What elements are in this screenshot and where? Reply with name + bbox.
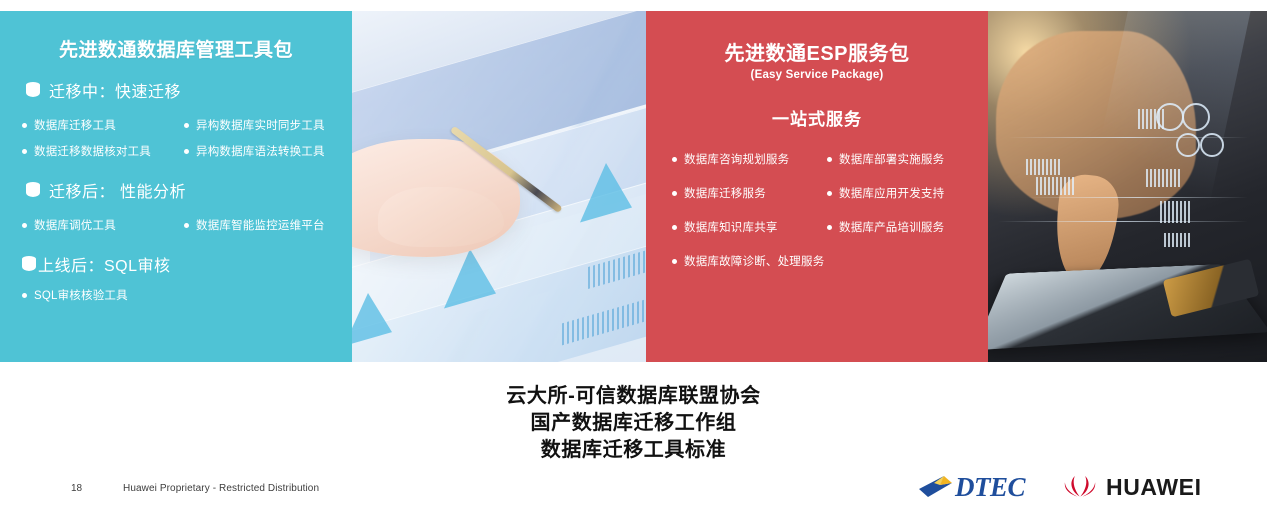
list-item-label: 异构数据库实时同步工具 xyxy=(196,117,325,133)
right-card-title: 先进数通ESP服务包 xyxy=(662,37,972,66)
holographic-bar-chart-icon xyxy=(1160,201,1192,223)
dtec-arrow-icon xyxy=(918,474,954,500)
list-item-label: 数据库应用开发支持 xyxy=(839,185,944,201)
list-item: 数据库调优工具 xyxy=(14,212,176,238)
left-product-card: 先进数通数据库管理工具包 迁移中：快速迁移 数据库迁移工具 异构数据库实时同步工… xyxy=(0,11,352,362)
section-heading-label: 迁移中：快速迁移 xyxy=(49,78,181,102)
bullet-dot-icon xyxy=(22,149,27,154)
dtec-logo: DTEC xyxy=(918,471,1025,503)
list-item: 数据库知识库共享 xyxy=(662,210,817,244)
right-card-list: 数据库咨询规划服务 数据库部署实施服务 数据库迁移服务 数据库应用开发支持 数据… xyxy=(662,142,972,278)
huawei-logo: HUAWEI xyxy=(1063,472,1202,502)
bullet-dot-icon xyxy=(22,123,27,128)
holographic-bar-chart-icon xyxy=(1164,233,1190,247)
list-item: 数据库迁移工具 xyxy=(14,112,176,138)
bottom-heading: 云大所-可信数据库联盟协会 国产数据库迁移工作组 数据库迁移工具标准 xyxy=(0,383,1267,464)
list-item: SQL审核核验工具 xyxy=(14,282,338,308)
list-item-label: 数据库故障诊断、处理服务 xyxy=(684,253,824,269)
holographic-bar-chart-icon xyxy=(1026,159,1062,175)
list-item: 数据库迁移服务 xyxy=(662,176,817,210)
bullet-dot-icon xyxy=(827,191,832,196)
list-item-label: 数据库产品培训服务 xyxy=(839,219,944,235)
list-item: 数据库产品培训服务 xyxy=(817,210,972,244)
list-item-label: 数据库知识库共享 xyxy=(684,219,778,235)
left-card-section-heading-2: 迁移后： 性能分析 xyxy=(26,178,338,202)
list-item-label: 异构数据库语法转换工具 xyxy=(196,143,325,159)
database-icon xyxy=(26,182,40,199)
page-number: 18 xyxy=(71,483,82,494)
list-item-label: 数据库调优工具 xyxy=(34,217,116,233)
holographic-bar-chart-icon xyxy=(1036,177,1076,195)
holographic-ring-icon xyxy=(1182,103,1210,131)
analytics-charts-handwriting-photo xyxy=(352,11,646,362)
list-item-label: 数据库部署实施服务 xyxy=(839,151,944,167)
left-card-section-heading-3: 上线后：SQL审核 xyxy=(22,252,338,276)
bottom-heading-line-2: 国产数据库迁移工作组 xyxy=(0,410,1267,437)
bottom-heading-line-3: 数据库迁移工具标准 xyxy=(0,437,1267,464)
left-card-section-heading-1: 迁移中：快速迁移 xyxy=(26,78,338,102)
list-item-label: 数据库咨询规划服务 xyxy=(684,151,789,167)
bullet-dot-icon xyxy=(672,259,677,264)
list-item: 异构数据库实时同步工具 xyxy=(176,112,338,138)
holographic-line xyxy=(1008,137,1248,138)
database-icon xyxy=(26,82,40,99)
bullet-dot-icon xyxy=(672,225,677,230)
list-item-label: 数据库迁移工具 xyxy=(34,117,116,133)
list-item: 数据库咨询规划服务 xyxy=(662,142,817,176)
list-item-label: SQL审核核验工具 xyxy=(34,287,128,303)
left-card-title: 先进数通数据库管理工具包 xyxy=(14,35,338,62)
list-item: 数据迁移数据核对工具 xyxy=(14,138,176,164)
list-item: 数据库智能监控运维平台 xyxy=(176,212,338,238)
bullet-dot-icon xyxy=(22,223,27,228)
bullet-dot-icon xyxy=(827,225,832,230)
holographic-line xyxy=(998,221,1248,222)
fingers-photo-element xyxy=(378,187,504,247)
holographic-bar-chart-icon xyxy=(1138,109,1164,129)
bullet-dot-icon xyxy=(827,157,832,162)
list-item-label: 数据迁移数据核对工具 xyxy=(34,143,151,159)
bottom-heading-line-1: 云大所-可信数据库联盟协会 xyxy=(0,383,1267,410)
huawei-logo-text: HUAWEI xyxy=(1106,476,1202,499)
bullet-dot-icon xyxy=(184,223,189,228)
left-card-list-1: 数据库迁移工具 异构数据库实时同步工具 数据迁移数据核对工具 异构数据库语法转换… xyxy=(14,112,338,164)
list-item: 数据库故障诊断、处理服务 xyxy=(662,244,817,278)
bullet-dot-icon xyxy=(672,157,677,162)
right-card-subtitle: (Easy Service Package) xyxy=(662,69,972,81)
tablet-touch-data-photo xyxy=(988,11,1267,362)
left-card-list-2: 数据库调优工具 数据库智能监控运维平台 xyxy=(14,212,338,238)
list-item: 异构数据库语法转换工具 xyxy=(176,138,338,164)
left-card-list-3: SQL审核核验工具 xyxy=(14,282,338,308)
right-service-card: 先进数通ESP服务包 (Easy Service Package) 一站式服务 … xyxy=(646,11,988,362)
bullet-dot-icon xyxy=(672,191,677,196)
holographic-line xyxy=(1028,197,1248,198)
dtec-logo-text: DTEC xyxy=(955,474,1025,501)
footer-confidentiality-note: Huawei Proprietary - Restricted Distribu… xyxy=(123,483,319,494)
right-card-section-heading: 一站式服务 xyxy=(662,105,972,130)
list-item-label: 数据库迁移服务 xyxy=(684,185,766,201)
bullet-dot-icon xyxy=(22,293,27,298)
banner-strip: 先进数通数据库管理工具包 迁移中：快速迁移 数据库迁移工具 异构数据库实时同步工… xyxy=(0,11,1267,362)
database-icon xyxy=(22,256,36,273)
bullet-dot-icon xyxy=(184,149,189,154)
huawei-flower-icon xyxy=(1063,474,1097,500)
list-item: 数据库应用开发支持 xyxy=(817,176,972,210)
list-item: 数据库部署实施服务 xyxy=(817,142,972,176)
section-heading-label: 上线后：SQL审核 xyxy=(38,252,171,276)
holographic-bar-chart-icon xyxy=(1146,169,1180,187)
list-item-label: 数据库智能监控运维平台 xyxy=(196,217,325,233)
bullet-dot-icon xyxy=(184,123,189,128)
section-heading-label: 迁移后： 性能分析 xyxy=(49,178,186,202)
